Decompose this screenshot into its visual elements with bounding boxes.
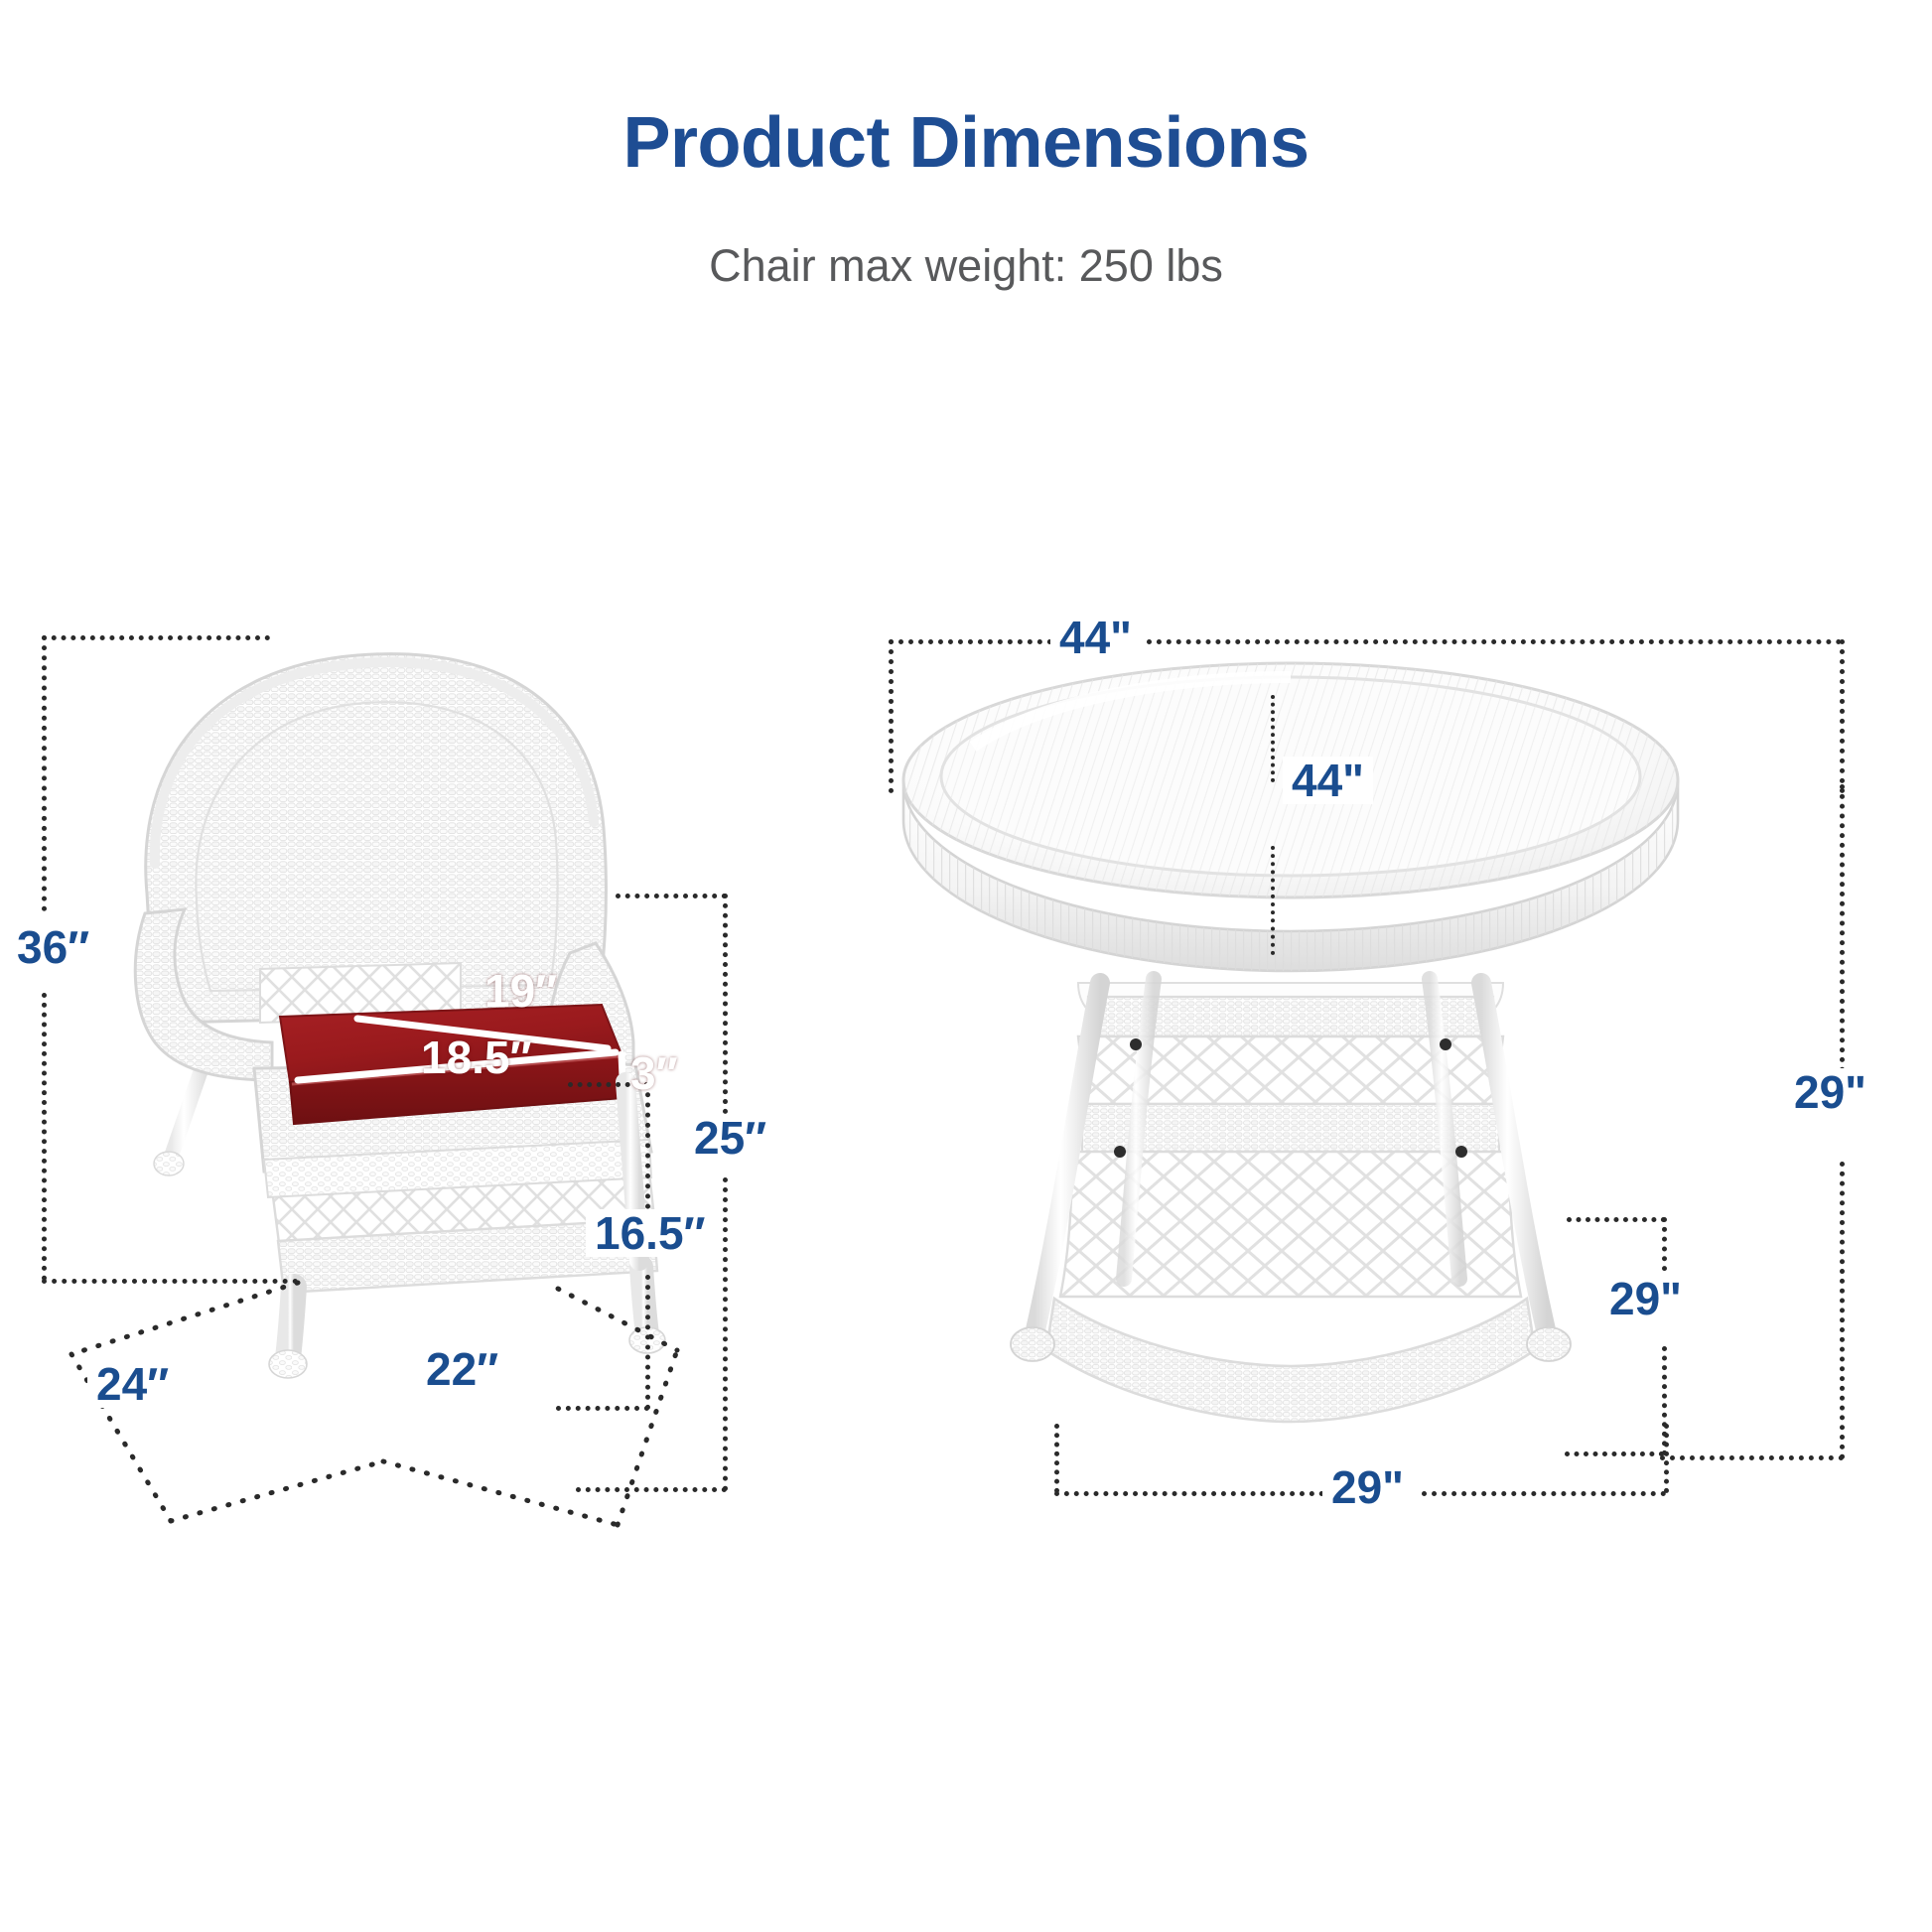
table-width-right-drop	[1840, 639, 1845, 793]
chair-width-label: 22″	[417, 1345, 507, 1393]
table-width-label: 44"	[1050, 614, 1141, 661]
chair-arm-height-top-guide	[616, 894, 727, 898]
table-height-label: 29"	[1785, 1068, 1875, 1116]
chair-arm-height-label: 25″	[685, 1114, 775, 1162]
table-base-width-label: 29"	[1322, 1463, 1413, 1511]
table-width-left-drop	[889, 639, 894, 793]
chair-seat-height-upper-guide	[645, 1082, 650, 1219]
chair-height-label: 36″	[8, 923, 98, 971]
table-depth-lower-guide	[1271, 846, 1275, 955]
chair-height-lower-guide	[42, 993, 47, 1281]
chair-depth-label: 24″	[87, 1360, 178, 1408]
chair-seat-height-label: 16.5″	[586, 1209, 715, 1257]
cushion-thickness-label: 3″	[630, 1050, 678, 1096]
table-height-bottom-guide	[1660, 1455, 1844, 1460]
table-depth-upper-guide	[1271, 695, 1275, 782]
chair-seat-height-lower-guide	[645, 1275, 650, 1410]
table-base-width-right-guide	[1422, 1491, 1666, 1496]
chair-seat-height-bottom-guide	[556, 1406, 649, 1411]
table-height-lower-guide	[1840, 1162, 1845, 1459]
table-width-right-guide	[1147, 639, 1842, 644]
product-dimensions-diagram: Product Dimensions Chair max weight: 250…	[0, 0, 1932, 1932]
chair-arm-height-lower-guide	[723, 1177, 728, 1491]
table-height-upper-guide	[1840, 784, 1845, 1072]
table-base-height-bottom-guide	[1565, 1451, 1664, 1456]
chair-arm-height-bottom-guide	[576, 1487, 727, 1492]
chair-height-upper-guide	[42, 635, 47, 911]
page-title: Product Dimensions	[0, 107, 1932, 179]
chair-arm-height-upper-guide	[723, 894, 728, 1124]
table-depth-label: 44"	[1283, 757, 1373, 804]
table-base-width-right-drop	[1664, 1424, 1669, 1493]
table-base-height-label: 29"	[1600, 1275, 1691, 1322]
table-base-height-top-guide	[1567, 1217, 1666, 1222]
table-base-width-left-drop	[1054, 1424, 1059, 1493]
page-subtitle: Chair max weight: 250 lbs	[0, 243, 1932, 288]
table-base-width-left-guide	[1054, 1491, 1324, 1496]
table-width-left-guide	[889, 639, 1052, 644]
cushion-depth-label: 19″	[484, 968, 557, 1014]
cushion-width-label: 18.5″	[421, 1035, 532, 1080]
table-base-height-upper-guide	[1662, 1217, 1667, 1281]
chair-height-top-guide	[42, 635, 270, 640]
